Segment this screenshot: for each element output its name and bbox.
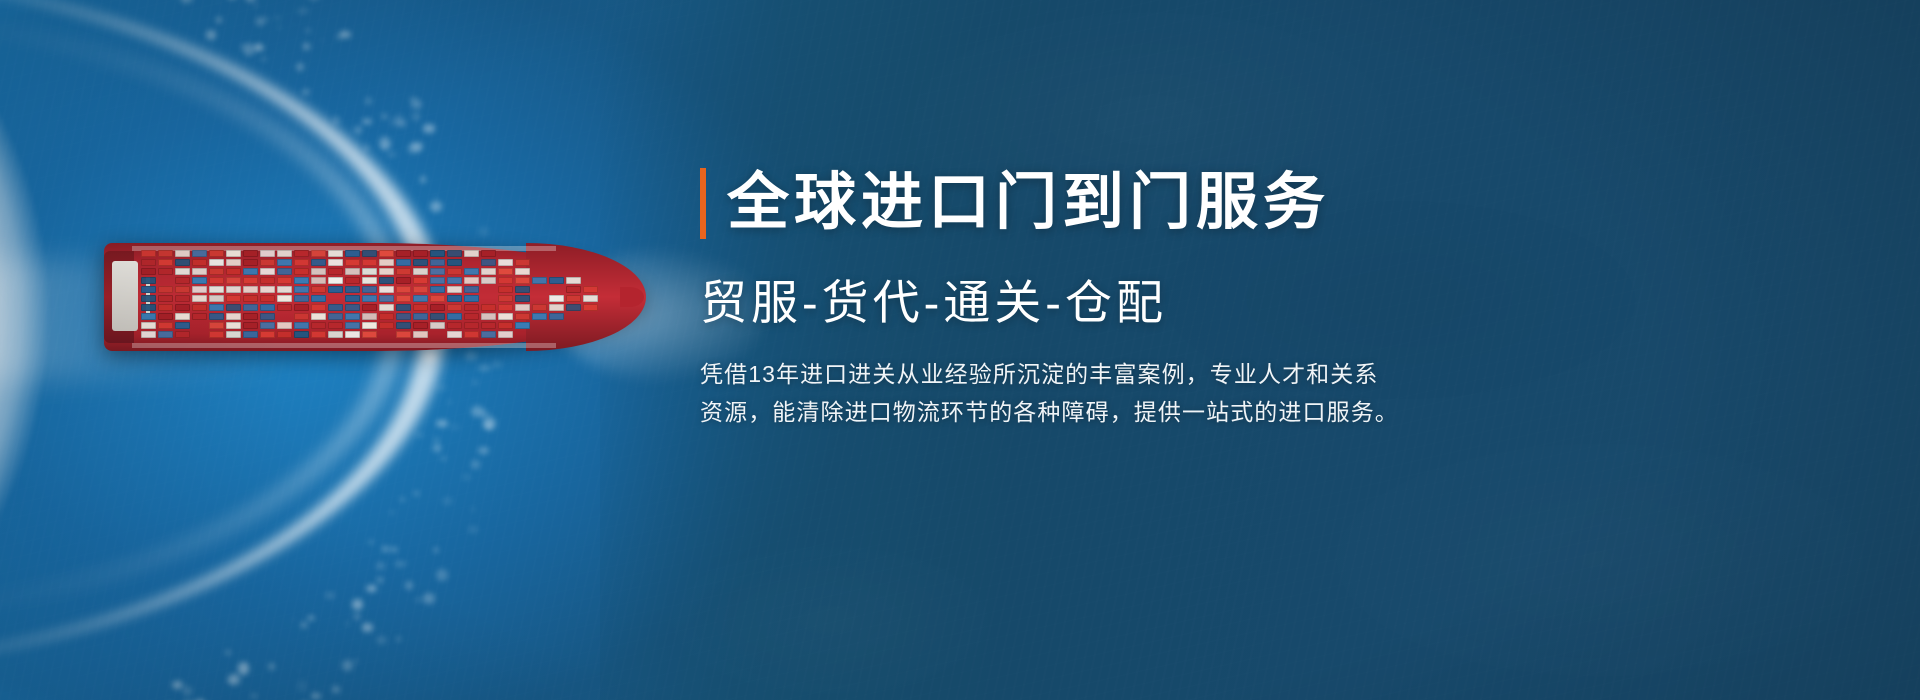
container-box — [141, 277, 156, 284]
container-box — [498, 331, 513, 338]
container-box — [192, 295, 207, 302]
container-box — [175, 322, 190, 329]
container-box — [158, 322, 173, 329]
container-box — [345, 331, 360, 338]
container-box — [277, 286, 292, 293]
banner-subtitle: 贸服-货代-通关-仓配 — [700, 276, 1460, 330]
body-line-1: 凭借13年进口进关从业经验所沉淀的丰富案例，专业人才和关系 — [700, 356, 1412, 394]
container-box — [362, 295, 377, 302]
container-box — [515, 304, 530, 311]
container-box — [362, 322, 377, 329]
container-box — [583, 295, 598, 302]
container-box — [413, 331, 428, 338]
container-box — [362, 259, 377, 266]
container-box — [209, 331, 224, 338]
container-box — [328, 331, 343, 338]
container-box — [260, 331, 275, 338]
banner-headline: 全球进口门到门服务 — [727, 168, 1330, 239]
container-box — [498, 286, 513, 293]
container-box — [158, 286, 173, 293]
container-box — [175, 250, 190, 257]
container-box — [192, 304, 207, 311]
container-box — [430, 313, 445, 320]
container-box — [447, 322, 462, 329]
container-box — [192, 268, 207, 275]
container-box — [260, 268, 275, 275]
container-box — [141, 259, 156, 266]
container-box — [243, 259, 258, 266]
container-box — [464, 286, 479, 293]
container-box — [566, 277, 581, 284]
container-box — [141, 250, 156, 257]
container-box — [226, 313, 241, 320]
container-box — [379, 268, 394, 275]
container-box — [481, 250, 496, 257]
container-box — [277, 304, 292, 311]
container-stacks — [140, 249, 602, 345]
container-box — [549, 304, 564, 311]
container-box — [294, 322, 309, 329]
container-box — [311, 286, 326, 293]
container-box — [464, 250, 479, 257]
container-box — [430, 259, 445, 266]
container-box — [311, 295, 326, 302]
container-box — [413, 313, 428, 320]
container-box — [379, 295, 394, 302]
container-box — [396, 268, 411, 275]
container-box — [226, 322, 241, 329]
container-box — [311, 250, 326, 257]
container-box — [226, 277, 241, 284]
container-box — [362, 286, 377, 293]
container-box — [192, 259, 207, 266]
container-box — [243, 295, 258, 302]
container-box — [175, 277, 190, 284]
container-box — [566, 286, 581, 293]
container-box — [243, 331, 258, 338]
container-box — [447, 286, 462, 293]
banner-body-copy: 凭借13年进口进关从业经验所沉淀的丰富案例，专业人才和关系 资源，能清除进口物流… — [700, 356, 1412, 432]
container-box — [175, 304, 190, 311]
container-box — [141, 295, 156, 302]
container-box — [430, 322, 445, 329]
container-box — [209, 286, 224, 293]
container-box — [175, 331, 190, 338]
container-box — [498, 304, 513, 311]
container-box — [515, 268, 530, 275]
container-box — [158, 313, 173, 320]
container-box — [260, 277, 275, 284]
ship-superstructure — [112, 261, 138, 331]
container-box — [243, 322, 258, 329]
container-box — [549, 295, 564, 302]
container-box — [175, 313, 190, 320]
container-box — [447, 313, 462, 320]
headline-row: 全球进口门到门服务 — [700, 168, 1460, 239]
container-box — [515, 277, 530, 284]
container-box — [311, 304, 326, 311]
container-box — [430, 277, 445, 284]
container-box — [209, 295, 224, 302]
container-box — [243, 268, 258, 275]
container-box — [277, 295, 292, 302]
container-box — [260, 286, 275, 293]
container-box — [481, 331, 496, 338]
container-box — [464, 277, 479, 284]
container-box — [260, 259, 275, 266]
container-box — [583, 286, 598, 293]
container-box — [379, 259, 394, 266]
container-box — [413, 277, 428, 284]
container-box — [328, 286, 343, 293]
container-box — [192, 313, 207, 320]
container-box — [413, 250, 428, 257]
container-box — [158, 295, 173, 302]
container-box — [345, 277, 360, 284]
container-box — [362, 277, 377, 284]
container-box — [209, 304, 224, 311]
container-box — [566, 295, 581, 302]
container-box — [549, 313, 564, 320]
container-box — [464, 313, 479, 320]
container-box — [277, 322, 292, 329]
container-box — [158, 304, 173, 311]
container-box — [226, 295, 241, 302]
container-box — [430, 304, 445, 311]
container-box — [311, 268, 326, 275]
container-box — [260, 250, 275, 257]
container-box — [345, 268, 360, 275]
container-box — [379, 250, 394, 257]
container-box — [515, 322, 530, 329]
container-box — [209, 259, 224, 266]
container-box — [277, 259, 292, 266]
container-box — [498, 277, 513, 284]
container-box — [447, 259, 462, 266]
container-box — [328, 277, 343, 284]
container-box — [175, 268, 190, 275]
container-box — [294, 286, 309, 293]
container-box — [498, 295, 513, 302]
container-box — [362, 313, 377, 320]
container-box — [345, 295, 360, 302]
container-box — [396, 322, 411, 329]
container-box — [209, 250, 224, 257]
container-box — [413, 268, 428, 275]
container-box — [464, 331, 479, 338]
container-box — [226, 286, 241, 293]
container-box — [345, 304, 360, 311]
container-box — [328, 322, 343, 329]
container-box — [277, 277, 292, 284]
container-box — [175, 295, 190, 302]
container-box — [141, 322, 156, 329]
container-box — [243, 277, 258, 284]
container-box — [583, 304, 598, 311]
container-box — [328, 250, 343, 257]
container-box — [396, 295, 411, 302]
banner-content: 全球进口门到门服务 贸服-货代-通关-仓配 凭借13年进口进关从业经验所沉淀的丰… — [700, 168, 1460, 432]
container-box — [413, 295, 428, 302]
container-box — [396, 277, 411, 284]
container-box — [481, 322, 496, 329]
container-box — [498, 268, 513, 275]
container-box — [175, 286, 190, 293]
container-box — [447, 331, 462, 338]
container-box — [141, 286, 156, 293]
container-box — [175, 259, 190, 266]
container-box — [396, 250, 411, 257]
container-box — [515, 286, 530, 293]
container-box — [481, 313, 496, 320]
container-box — [379, 322, 394, 329]
container-box — [464, 295, 479, 302]
container-box — [209, 268, 224, 275]
container-box — [311, 331, 326, 338]
container-box — [413, 259, 428, 266]
container-box — [294, 295, 309, 302]
container-box — [362, 331, 377, 338]
container-box — [362, 268, 377, 275]
container-box — [158, 259, 173, 266]
container-box — [345, 313, 360, 320]
container-box — [328, 313, 343, 320]
container-box — [311, 322, 326, 329]
container-box — [345, 250, 360, 257]
container-box — [396, 259, 411, 266]
container-box — [515, 295, 530, 302]
container-box — [277, 331, 292, 338]
container-box — [192, 277, 207, 284]
container-box — [209, 277, 224, 284]
container-box — [294, 304, 309, 311]
container-box — [294, 250, 309, 257]
container-box — [345, 322, 360, 329]
container-box — [294, 313, 309, 320]
container-box — [464, 322, 479, 329]
container-box — [345, 259, 360, 266]
container-box — [226, 304, 241, 311]
container-box — [447, 268, 462, 275]
container-box — [243, 304, 258, 311]
container-box — [447, 250, 462, 257]
container-box — [413, 286, 428, 293]
container-box — [430, 250, 445, 257]
container-box — [481, 277, 496, 284]
container-box — [158, 250, 173, 257]
container-box — [464, 268, 479, 275]
container-box — [226, 259, 241, 266]
container-box — [209, 322, 224, 329]
container-box — [158, 331, 173, 338]
container-box — [141, 268, 156, 275]
container-box — [447, 277, 462, 284]
container-box — [158, 268, 173, 275]
container-box — [481, 268, 496, 275]
container-box — [379, 286, 394, 293]
container-box — [192, 250, 207, 257]
container-box — [192, 286, 207, 293]
accent-bar-icon — [700, 168, 706, 239]
container-box — [396, 331, 411, 338]
container-box — [447, 304, 462, 311]
container-box — [532, 277, 547, 284]
container-box — [277, 268, 292, 275]
container-box — [260, 304, 275, 311]
container-box — [464, 304, 479, 311]
container-box — [498, 313, 513, 320]
container-box — [481, 304, 496, 311]
container-box — [498, 259, 513, 266]
container-box — [277, 250, 292, 257]
container-box — [362, 250, 377, 257]
container-box — [243, 286, 258, 293]
container-box — [141, 304, 156, 311]
container-box — [532, 313, 547, 320]
container-box — [515, 313, 530, 320]
container-box — [481, 259, 496, 266]
container-box — [260, 295, 275, 302]
container-box — [260, 313, 275, 320]
container-box — [396, 313, 411, 320]
container-box — [311, 313, 326, 320]
container-ship — [104, 243, 644, 351]
container-box — [430, 268, 445, 275]
container-box — [345, 286, 360, 293]
container-box — [294, 277, 309, 284]
container-box — [294, 259, 309, 266]
container-box — [515, 259, 530, 266]
container-box — [294, 331, 309, 338]
container-box — [413, 322, 428, 329]
container-box — [328, 259, 343, 266]
container-box — [379, 304, 394, 311]
container-box — [362, 304, 377, 311]
container-box — [549, 277, 564, 284]
container-box — [447, 295, 462, 302]
container-box — [430, 286, 445, 293]
container-box — [226, 268, 241, 275]
container-box — [328, 268, 343, 275]
body-line-2: 资源，能清除进口物流环节的各种障碍，提供一站式的进口服务。 — [700, 394, 1412, 432]
container-box — [243, 313, 258, 320]
container-box — [294, 268, 309, 275]
container-box — [566, 304, 581, 311]
container-box — [396, 304, 411, 311]
container-box — [209, 313, 224, 320]
hero-banner: 全球进口门到门服务 贸服-货代-通关-仓配 凭借13年进口进关从业经验所沉淀的丰… — [0, 0, 1920, 700]
container-box — [311, 259, 326, 266]
container-box — [141, 313, 156, 320]
container-box — [413, 304, 428, 311]
container-box — [379, 313, 394, 320]
container-box — [311, 277, 326, 284]
container-box — [260, 322, 275, 329]
container-box — [141, 331, 156, 338]
container-box — [430, 295, 445, 302]
container-box — [243, 250, 258, 257]
container-box — [226, 331, 241, 338]
container-box — [396, 286, 411, 293]
container-box — [226, 250, 241, 257]
container-box — [328, 304, 343, 311]
container-box — [532, 304, 547, 311]
container-box — [498, 322, 513, 329]
container-box — [379, 277, 394, 284]
